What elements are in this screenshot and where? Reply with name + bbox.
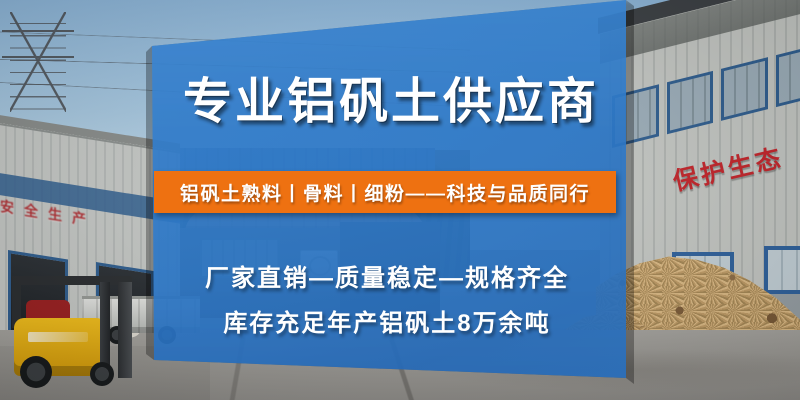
- subline-2: 库存充足年产铝矾土8万余吨: [152, 303, 622, 338]
- headline: 专业铝矾土供应商: [152, 78, 630, 127]
- subline-1: 厂家直销—质量稳定—规格齐全: [152, 258, 622, 293]
- tagline-text: 铝矾土熟料丨骨料丨细粉——科技与品质同行: [180, 179, 590, 206]
- tagline-bar: 铝矾土熟料丨骨料丨细粉——科技与品质同行: [154, 171, 616, 213]
- promotional-banner: 保护生态 安全生产 专业铝矾土供应商: [0, 0, 800, 400]
- banner-content: 专业铝矾土供应商 铝矾土熟料丨骨料丨细粉——科技与品质同行 厂家直销—质量稳定—…: [152, 0, 630, 400]
